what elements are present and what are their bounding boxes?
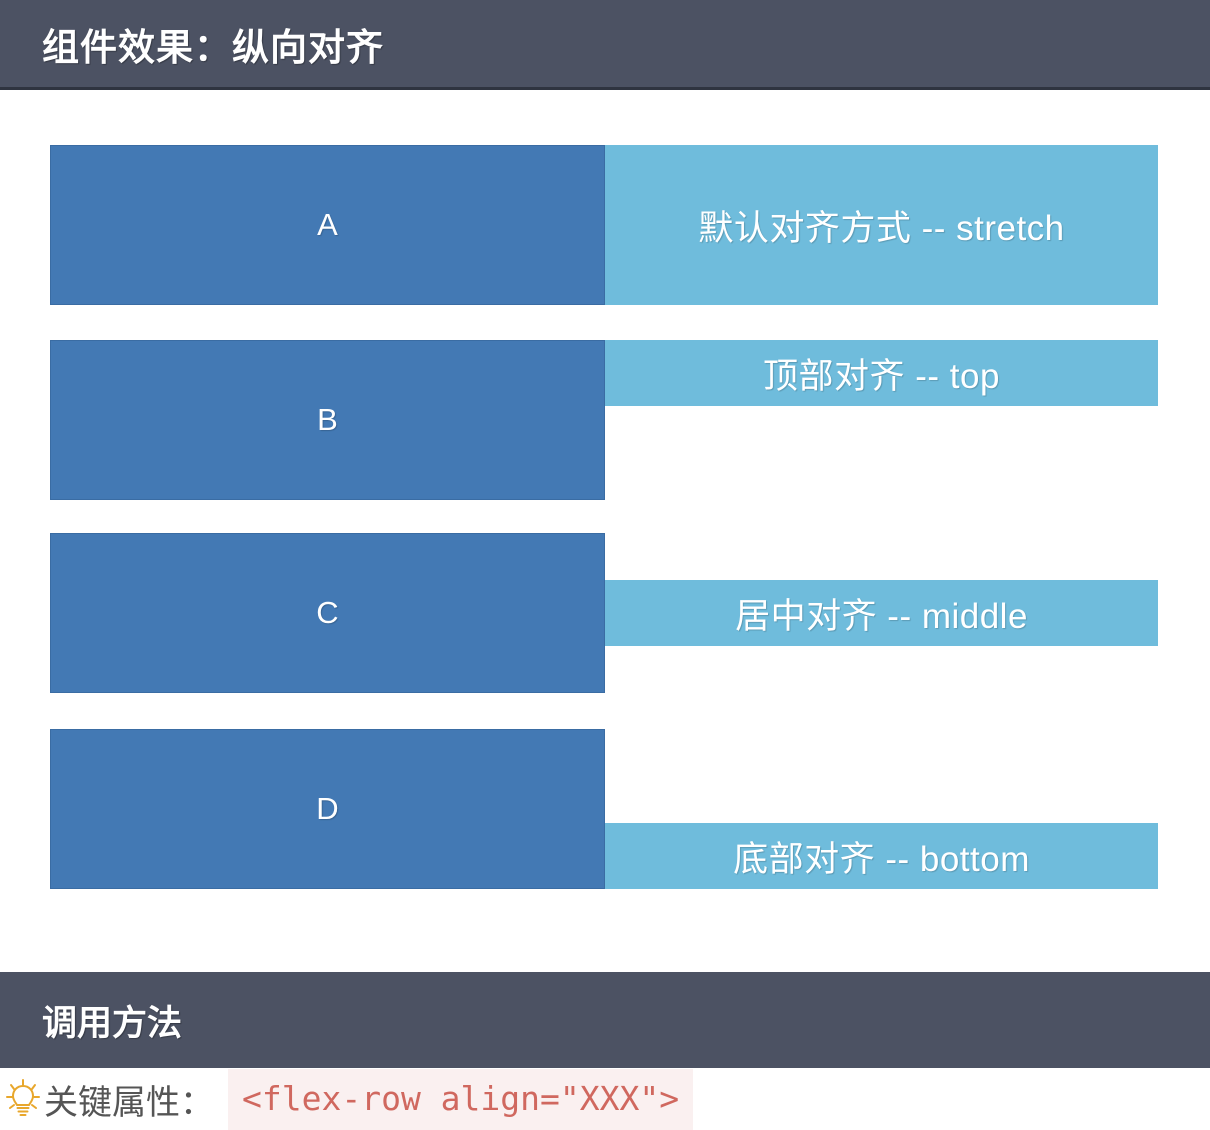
lightbulb-icon <box>6 1079 40 1119</box>
demo-box-right-b: 顶部对齐 -- top <box>605 340 1158 406</box>
demo-box-left-c: C <box>50 533 605 693</box>
header-bar: 组件效果：纵向对齐 <box>0 0 1210 90</box>
demo-row-stretch: A 默认对齐方式 -- stretch <box>50 145 1158 305</box>
key-attribute-label: 关键属性： <box>44 1075 214 1124</box>
demo-box-letter-b: B <box>317 402 338 438</box>
page-title: 组件效果：纵向对齐 <box>42 17 384 71</box>
usage-section-title: 调用方法 <box>42 995 182 1046</box>
demo-box-right-a: 默认对齐方式 -- stretch <box>605 145 1158 305</box>
demo-box-letter-c: C <box>316 595 338 631</box>
demo-row-top: B 顶部对齐 -- top <box>50 340 1158 500</box>
key-attribute-row: 关键属性： <flex-row align="XXX"> <box>0 1068 1210 1130</box>
usage-section-bar: 调用方法 <box>0 972 1210 1068</box>
demo-row-bottom: D 底部对齐 -- bottom <box>50 729 1158 889</box>
demo-box-right-c: 居中对齐 -- middle <box>605 580 1158 646</box>
demo-box-right-d: 底部对齐 -- bottom <box>605 823 1158 889</box>
demo-row-middle: C 居中对齐 -- middle <box>50 533 1158 693</box>
demo-box-letter-d: D <box>316 791 338 827</box>
demo-box-letter-a: A <box>317 207 338 243</box>
demo-box-left-d: D <box>50 729 605 889</box>
demo-box-left-b: B <box>50 340 605 500</box>
key-attribute-code: <flex-row align="XXX"> <box>228 1069 693 1130</box>
demo-area: A 默认对齐方式 -- stretch B 顶部对齐 -- top C 居中对齐… <box>0 93 1210 970</box>
slide-page: 组件效果：纵向对齐 A 默认对齐方式 -- stretch B 顶部对齐 -- … <box>0 0 1210 1130</box>
demo-box-left-a: A <box>50 145 605 305</box>
